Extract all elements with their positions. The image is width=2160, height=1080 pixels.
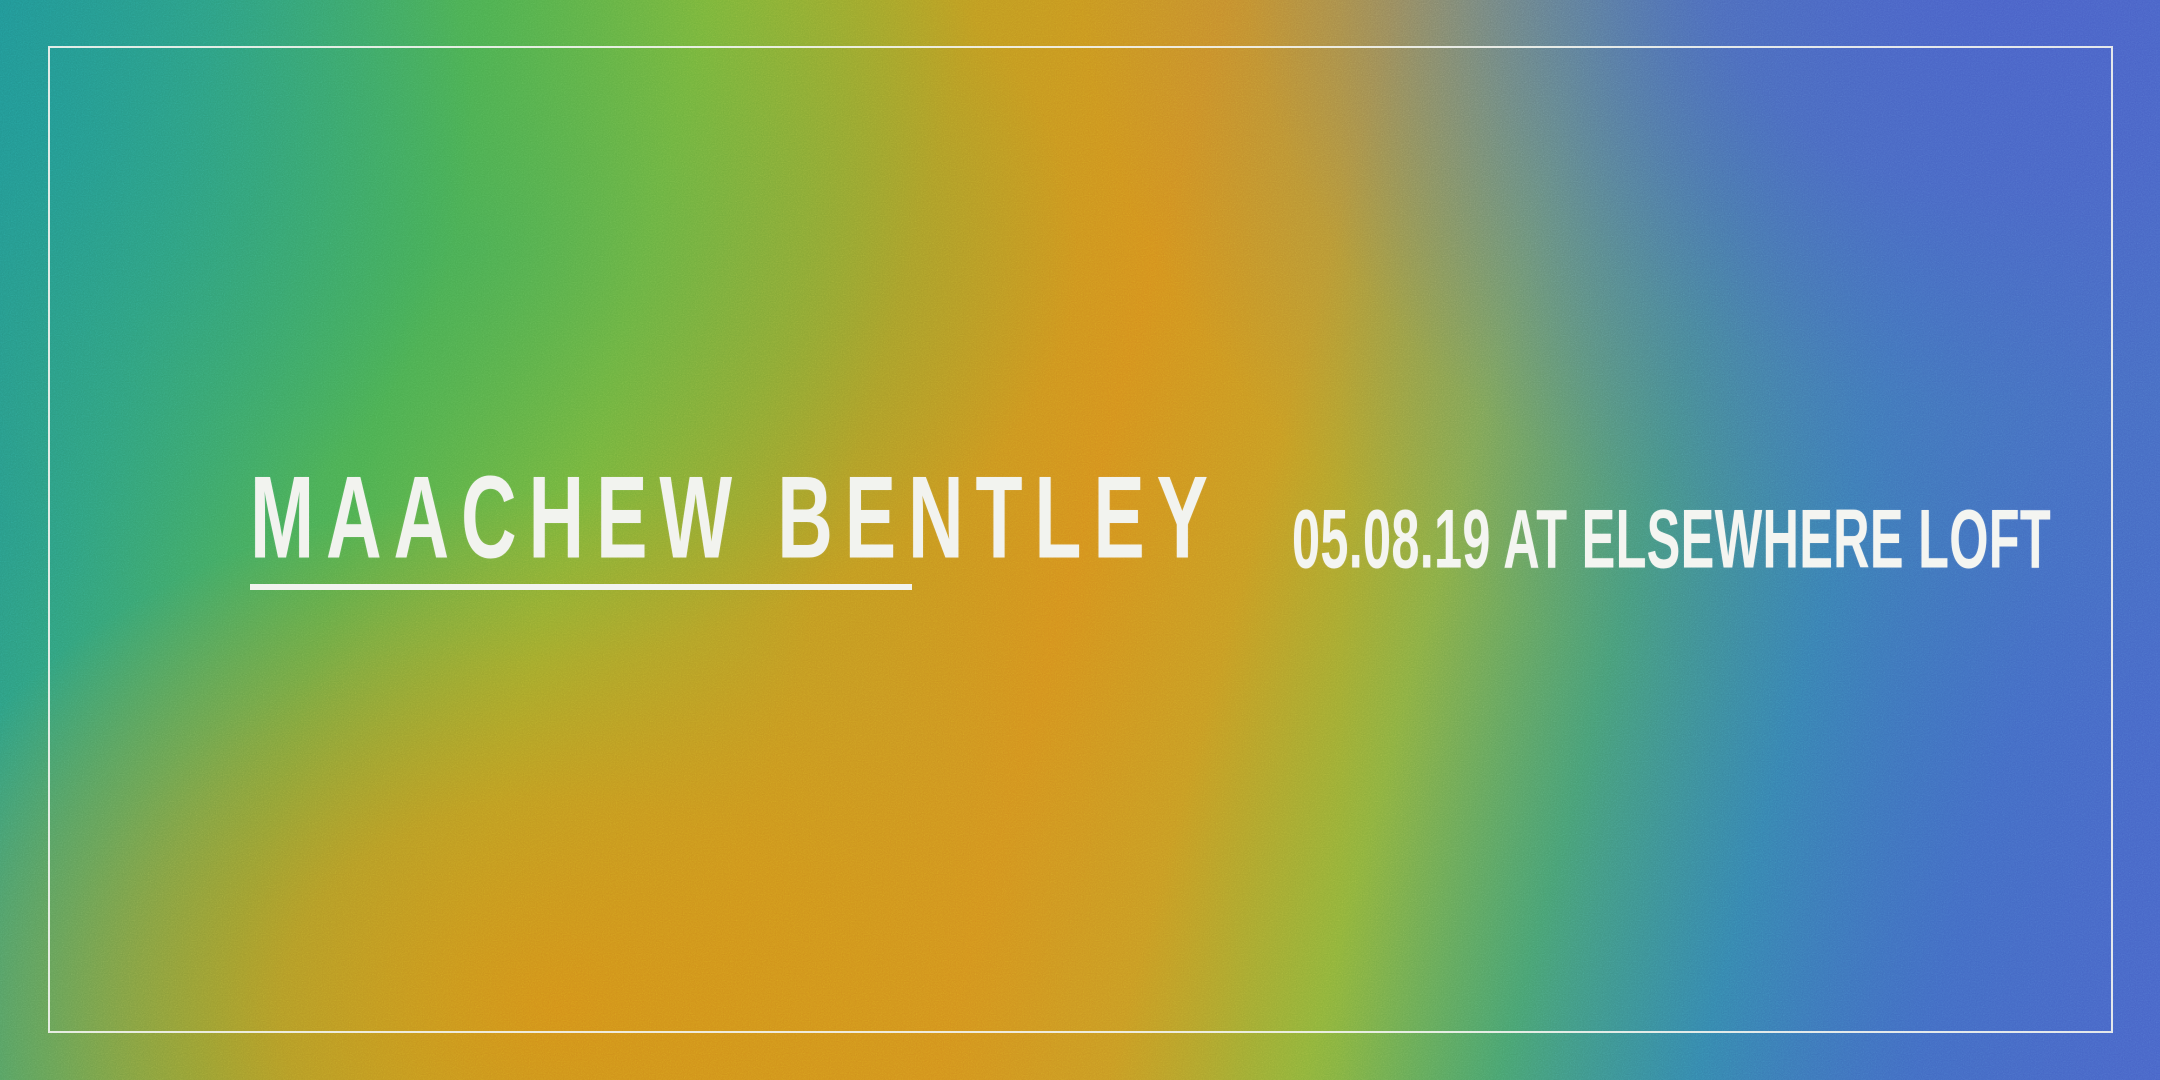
- event-date-venue-line: 05.08.19 AT ELSEWHERE LOFT: [1292, 499, 2051, 581]
- event-details-block: 05.08.19 AT ELSEWHERE LOFT: [1292, 494, 2160, 586]
- artist-name: MAACHEW BENTLEY: [250, 460, 1220, 577]
- event-flyer-poster: MAACHEW BENTLEY 05.08.19 AT ELSEWHERE LO…: [0, 0, 2160, 1080]
- artist-name-underline: [250, 584, 912, 590]
